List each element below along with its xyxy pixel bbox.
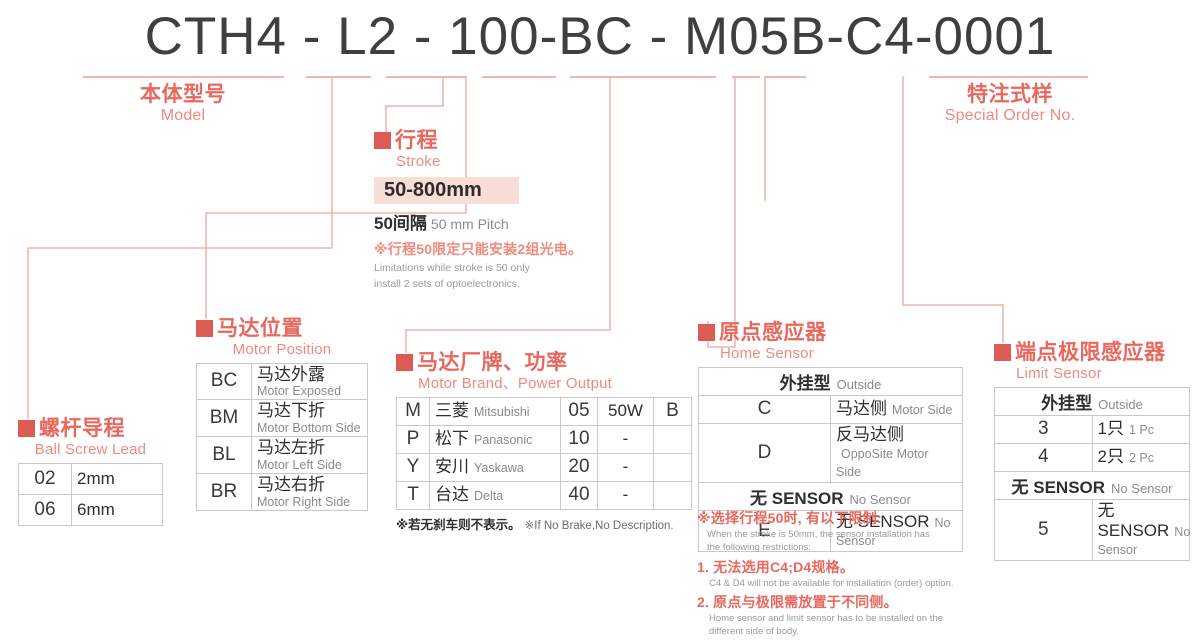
- home-sensor-title-cn: 原点感应器: [719, 322, 827, 343]
- cell-desc: 马达左折 Motor Left Side: [252, 437, 368, 474]
- section-motor-position: 马达位置 Motor Position BC 马达外露 Motor Expose…: [196, 318, 368, 511]
- band-no-sensor-cn: 无 SENSOR: [1012, 478, 1106, 497]
- cell-brake-code: B: [654, 397, 692, 425]
- warning-head-cn: ※选择行程50时, 有以下限制:: [697, 508, 997, 528]
- motor-position-title-cn: 马达位置: [217, 318, 303, 339]
- cell-power-code: 20: [561, 453, 598, 481]
- cell-code: 02: [19, 463, 72, 494]
- cell-desc-en: Motor Left Side: [257, 458, 362, 472]
- band-outside-cn: 外挂型: [1041, 394, 1092, 413]
- warning-head-en-2: the following restrictions:: [707, 542, 997, 555]
- band-outside: 外挂型Outside: [699, 367, 963, 395]
- warning-item2-en-2: different side of body.: [709, 626, 997, 639]
- stroke-note-en-1: Limitations while stroke is 50 only: [374, 261, 582, 275]
- cell-desc-en: Motor Bottom Side: [257, 421, 362, 435]
- cell-brake-empty: [654, 481, 692, 509]
- special-order-title-en: Special Order No.: [925, 107, 1095, 125]
- stroke-note-en-2: install 2 sets of optoelectronics.: [374, 277, 582, 291]
- stroke-range-value: 50-800mm: [374, 177, 519, 204]
- motor-brand-title-cn: 马达厂牌、功率: [417, 352, 568, 373]
- table-row[interactable]: M 三菱Mitsubishi 05 50W B: [397, 397, 692, 425]
- cell-desc: 反马达侧OppoSite Motor Side: [831, 423, 963, 482]
- bullet-square-icon: [18, 420, 35, 437]
- cell-brand-en: Yaskawa: [474, 461, 524, 475]
- cell-desc: 无 SENSORNo Sensor: [1092, 499, 1190, 560]
- cell-desc: 2只2 Pc: [1092, 443, 1190, 471]
- cell-power: -: [598, 425, 654, 453]
- motor-brand-title-en: Motor Brand、Power Output: [418, 376, 692, 393]
- cell-brand-name: 三菱Mitsubishi: [430, 397, 561, 425]
- cell-code: 3: [995, 415, 1093, 443]
- cell-desc: 马达外露 Motor Exposed: [252, 363, 368, 400]
- warning-item1-en: C4 & D4 will not be available for instal…: [709, 578, 997, 591]
- motor-brand-heading: 马达厂牌、功率: [396, 352, 692, 373]
- cell-brand-en: Mitsubishi: [474, 405, 530, 419]
- band-outside-cn: 外挂型: [780, 374, 831, 393]
- stroke-pitch-en: 50 mm Pitch: [431, 216, 509, 232]
- bullet-square-icon: [196, 320, 213, 337]
- band-outside-en: Outside: [1098, 397, 1143, 412]
- cell-power-value: -: [623, 485, 629, 504]
- model-title-en: Model: [93, 107, 273, 125]
- cell-desc-en: Motor Side: [892, 403, 952, 417]
- home-sensor-heading: 原点感应器: [698, 322, 963, 343]
- cell-code: BM: [197, 400, 252, 437]
- cell-power: 50W: [598, 397, 654, 425]
- motor-position-title-en: Motor Position: [196, 342, 368, 359]
- cell-desc: 马达下折 Motor Bottom Side: [252, 400, 368, 437]
- bullet-square-icon: [698, 324, 715, 341]
- brake-note-en: ※If No Brake,No Description.: [525, 520, 674, 532]
- cell-desc-en: 2 Pc: [1129, 451, 1154, 465]
- cell-desc: 2mm: [72, 463, 163, 494]
- model-title-cn: 本体型号: [93, 84, 273, 105]
- home-sensor-title-en: Home Sensor: [720, 346, 963, 363]
- bullet-square-icon: [396, 354, 413, 371]
- cell-brand-code: T: [397, 481, 430, 509]
- brake-note-cn: ※若无刹车则不表示。: [396, 518, 521, 532]
- table-band-row: 无 SENSORNo Sensor: [699, 482, 963, 510]
- cell-brand-code: P: [397, 425, 430, 453]
- motor-position-heading: 马达位置: [196, 318, 368, 339]
- diagram-canvas: CTH4 - L2 - 100-BC - M05B-C4-0001: [0, 0, 1200, 601]
- table-row[interactable]: BC 马达外露 Motor Exposed: [197, 363, 368, 400]
- cell-desc-cn: 无 SENSOR: [1098, 501, 1170, 540]
- cell-brand-code: M: [397, 397, 430, 425]
- motor-brand-table: M 三菱Mitsubishi 05 50W B P 松下Panasonic 10…: [396, 397, 692, 510]
- cell-desc-cn: 6mm: [77, 500, 115, 519]
- limit-sensor-title-en: Limit Sensor: [1016, 366, 1190, 383]
- cell-desc: 6mm: [72, 494, 163, 525]
- cell-code: 06: [19, 494, 72, 525]
- cell-desc-cn: 马达右折: [257, 475, 362, 495]
- section-limit-sensor: 端点极限感应器 Limit Sensor 外挂型Outside 3 1只1 Pc…: [994, 342, 1190, 561]
- home-sensor-warning: ※选择行程50时, 有以下限制: When the stroke is 50mm…: [697, 508, 997, 641]
- band-no-sensor-en: No Sensor: [850, 492, 911, 507]
- band-outside-en: Outside: [837, 377, 882, 392]
- stroke-title-cn: 行程: [395, 130, 438, 151]
- cell-desc-cn: 2只: [1098, 447, 1124, 466]
- cell-desc-cn: 马达下折: [257, 401, 362, 421]
- limit-sensor-heading: 端点极限感应器: [994, 342, 1190, 363]
- warning-head-en-1: When the stroke is 50mm, the sensor inst…: [707, 529, 997, 542]
- cell-brand-en: Delta: [474, 489, 503, 503]
- cell-brake-empty: [654, 425, 692, 453]
- stroke-pitch-cn: 50间隔: [374, 214, 427, 233]
- section-motor-brand: 马达厂牌、功率 Motor Brand、Power Output M 三菱Mit…: [396, 352, 692, 534]
- cell-desc: 1只1 Pc: [1092, 415, 1190, 443]
- cell-code: D: [699, 423, 831, 482]
- stroke-title-en: Stroke: [396, 154, 582, 171]
- cell-desc-cn: 马达左折: [257, 438, 362, 458]
- table-row[interactable]: 06 6mm: [19, 494, 163, 525]
- table-band-row: 外挂型Outside: [995, 387, 1190, 415]
- table-row[interactable]: T 台达Delta 40 -: [397, 481, 692, 509]
- section-model: 本体型号 Model: [93, 84, 273, 125]
- cell-code: 5: [995, 499, 1093, 560]
- table-row[interactable]: BM 马达下折 Motor Bottom Side: [197, 400, 368, 437]
- table-row[interactable]: BL 马达左折 Motor Left Side: [197, 437, 368, 474]
- cell-desc-en: OppoSite Motor Side: [836, 447, 929, 479]
- table-row[interactable]: 4 2只2 Pc: [995, 443, 1190, 471]
- stroke-heading: 行程: [374, 130, 582, 151]
- stroke-note-cn: ※行程50限定只能安装2组光电。: [374, 239, 582, 259]
- cell-power: -: [598, 481, 654, 509]
- cell-code: BC: [197, 363, 252, 400]
- cell-power: -: [598, 453, 654, 481]
- cell-desc: 马达侧Motor Side: [831, 395, 963, 423]
- cell-power-value: -: [623, 429, 629, 448]
- table-row[interactable]: BR 马达右折 Motor Right Side: [197, 474, 368, 511]
- cell-power-value: 50W: [608, 401, 643, 420]
- ball-screw-lead-title-cn: 螺杆导程: [39, 418, 125, 439]
- band-no-sensor-cn: 无 SENSOR: [750, 489, 844, 508]
- cell-desc-cn: 反马达侧: [836, 425, 904, 444]
- cell-desc-cn: 2mm: [77, 469, 115, 488]
- warning-item2-en-1: Home sensor and limit sensor has to be i…: [709, 613, 997, 626]
- table-row[interactable]: C 马达侧Motor Side: [699, 395, 963, 423]
- band-no-sensor-en: No Sensor: [1111, 481, 1172, 496]
- cell-desc: 马达右折 Motor Right Side: [252, 474, 368, 511]
- table-row[interactable]: P 松下Panasonic 10 -: [397, 425, 692, 453]
- cell-desc-cn: 马达侧: [836, 399, 887, 418]
- table-row[interactable]: 5 无 SENSORNo Sensor: [995, 499, 1190, 560]
- table-band-row: 无 SENSORNo Sensor: [995, 471, 1190, 499]
- cell-power-code: 40: [561, 481, 598, 509]
- table-row[interactable]: D 反马达侧OppoSite Motor Side: [699, 423, 963, 482]
- ball-screw-lead-title-en: Ball Screw Lead: [18, 442, 163, 459]
- bullet-square-icon: [374, 132, 391, 149]
- cell-brand-code: Y: [397, 453, 430, 481]
- ball-screw-lead-heading: 螺杆导程: [18, 418, 163, 439]
- bullet-square-icon: [994, 344, 1011, 361]
- cell-code: C: [699, 395, 831, 423]
- table-row[interactable]: Y 安川Yaskawa 20 -: [397, 453, 692, 481]
- cell-brand-cn: 松下: [435, 429, 469, 448]
- cell-desc-cn: 马达外露: [257, 365, 362, 385]
- limit-sensor-table: 外挂型Outside 3 1只1 Pc 4 2只2 Pc 无 SENSORNo …: [994, 387, 1190, 561]
- cell-power-code: 10: [561, 425, 598, 453]
- limit-sensor-title-cn: 端点极限感应器: [1015, 342, 1166, 363]
- cell-brand-name: 台达Delta: [430, 481, 561, 509]
- cell-power-value: -: [623, 457, 629, 476]
- cell-brand-cn: 台达: [435, 485, 469, 504]
- cell-brand-en: Panasonic: [474, 433, 532, 447]
- cell-code: BL: [197, 437, 252, 474]
- cell-desc-en: Motor Exposed: [257, 384, 362, 398]
- cell-desc-en: 1 Pc: [1129, 423, 1154, 437]
- brake-note: ※若无刹车则不表示。※If No Brake,No Description.: [396, 514, 692, 534]
- ball-screw-lead-table: 02 2mm 06 6mm: [18, 463, 163, 526]
- warning-item2-cn: 2. 原点与极限需放置于不同侧。: [697, 592, 997, 612]
- cell-brake-empty: [654, 453, 692, 481]
- stroke-pitch: 50间隔50 mm Pitch: [374, 209, 582, 234]
- cell-code: BR: [197, 474, 252, 511]
- section-stroke: 行程 Stroke 50-800mm 50间隔50 mm Pitch ※行程50…: [374, 130, 582, 291]
- cell-desc-en: Motor Right Side: [257, 495, 362, 509]
- section-ball-screw-lead: 螺杆导程 Ball Screw Lead 02 2mm 06 6mm: [18, 418, 163, 526]
- table-band-row: 外挂型Outside: [699, 367, 963, 395]
- motor-position-table: BC 马达外露 Motor Exposed BM 马达下折 Motor Bott…: [196, 363, 368, 512]
- warning-item1-cn: 1. 无法选用C4;D4规格。: [697, 557, 997, 577]
- cell-desc-cn: 1只: [1098, 419, 1124, 438]
- special-order-title-cn: 特注式样: [925, 84, 1095, 105]
- cell-brand-name: 安川Yaskawa: [430, 453, 561, 481]
- band-outside: 外挂型Outside: [995, 387, 1190, 415]
- cell-code: 4: [995, 443, 1093, 471]
- section-special-order: 特注式样 Special Order No.: [925, 84, 1095, 125]
- cell-power-code: 05: [561, 397, 598, 425]
- table-row[interactable]: 02 2mm: [19, 463, 163, 494]
- cell-brand-cn: 安川: [435, 457, 469, 476]
- band-no-sensor: 无 SENSORNo Sensor: [699, 482, 963, 510]
- cell-brand-cn: 三菱: [435, 401, 469, 420]
- band-no-sensor: 无 SENSORNo Sensor: [995, 471, 1190, 499]
- table-row[interactable]: 3 1只1 Pc: [995, 415, 1190, 443]
- cell-brand-name: 松下Panasonic: [430, 425, 561, 453]
